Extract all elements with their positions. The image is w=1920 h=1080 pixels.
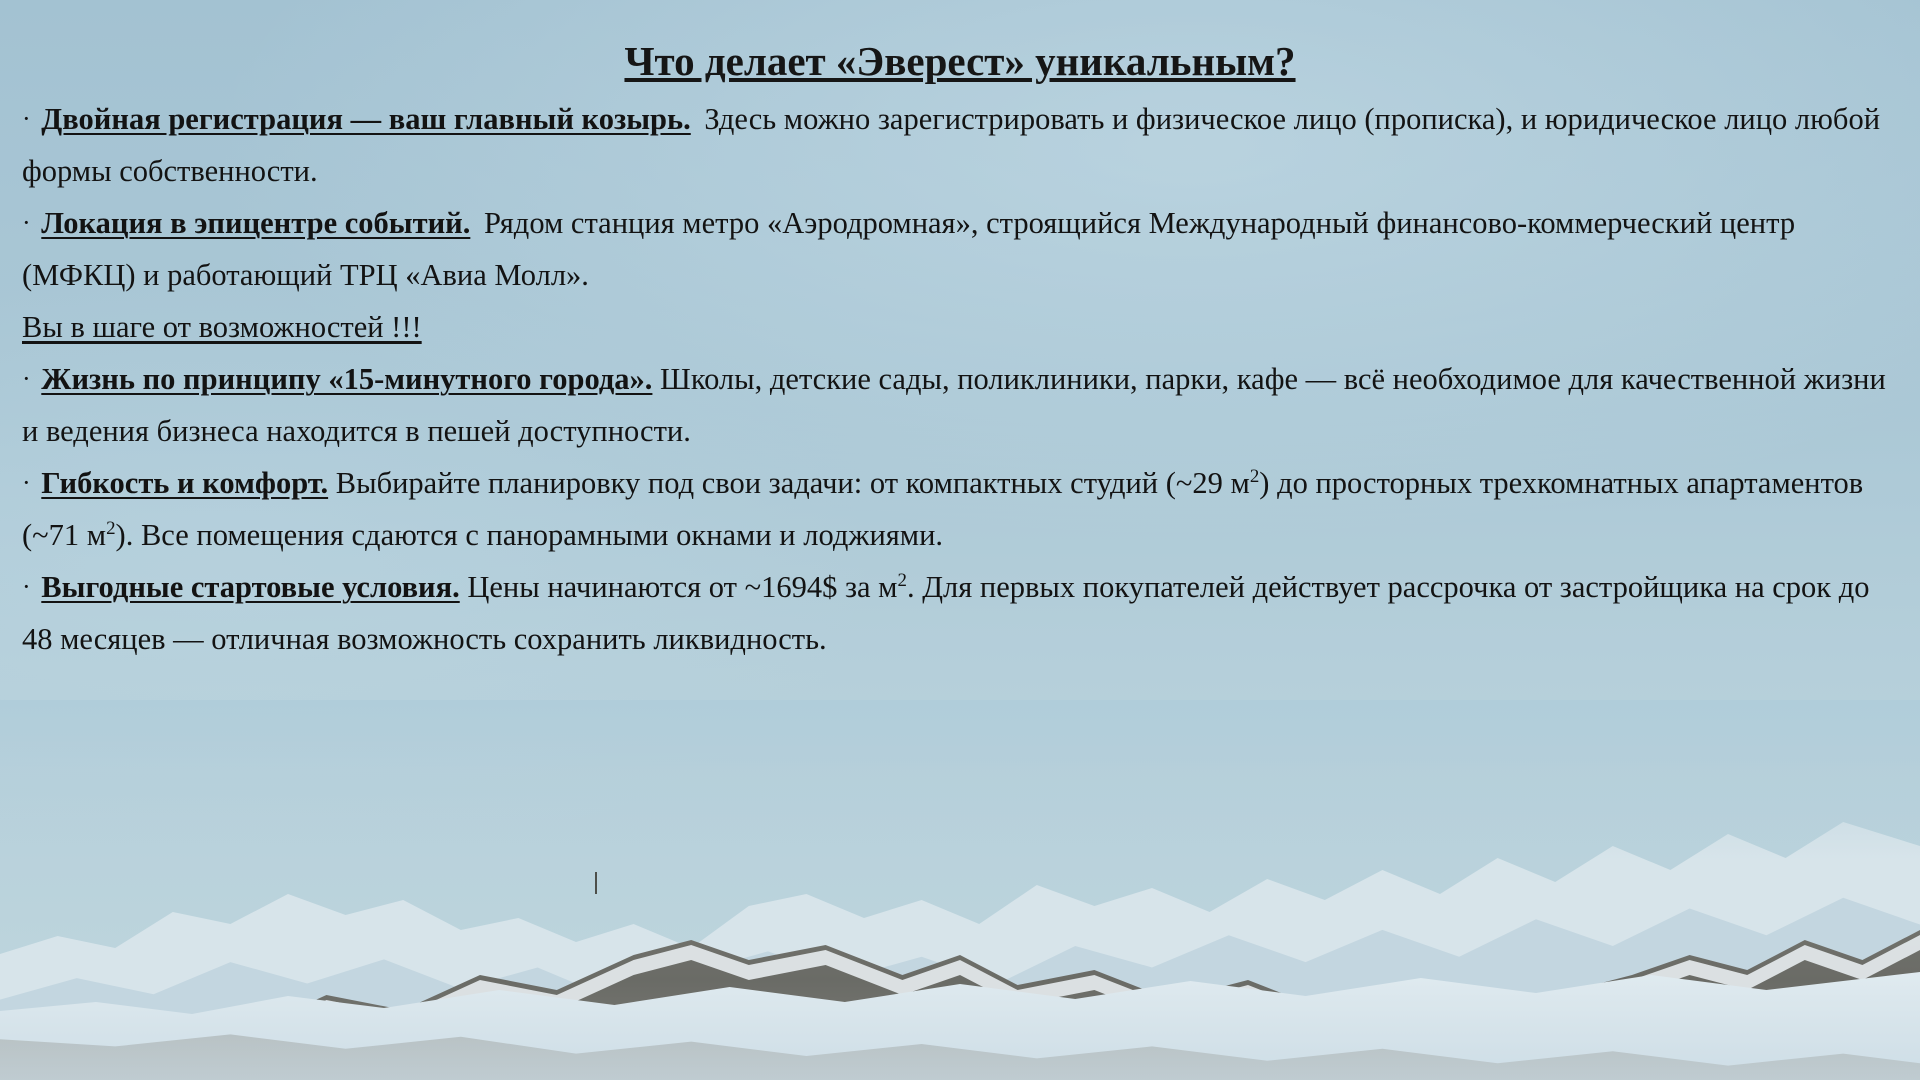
atmospheric-haze xyxy=(0,700,1920,860)
presentation-slide: Что делает «Эверест» уникальным? · Двойн… xyxy=(0,0,1920,1080)
list-item: · Гибкость и комфорт. Выбирайте планиров… xyxy=(22,457,1894,561)
bullet-lead: Выгодные стартовые условия. xyxy=(41,570,459,604)
bullet-marker-icon: · xyxy=(22,208,31,237)
bullet-tagline: Вы в шаге от возможностей !!! xyxy=(22,310,422,344)
bullet-lead: Двойная регистрация — ваш главный козырь… xyxy=(41,102,690,136)
superscript-square-1: 2 xyxy=(898,570,907,591)
superscript-square-1: 2 xyxy=(1250,466,1259,487)
bullet-body-part-1: Выбирайте планировку под свои задачи: от… xyxy=(336,466,1250,500)
list-item: · Жизнь по принципу «15-минутного города… xyxy=(22,353,1894,457)
list-item: · Двойная регистрация — ваш главный козы… xyxy=(22,93,1894,197)
bullet-list: · Двойная регистрация — ваш главный козы… xyxy=(18,93,1902,665)
summit-antenna xyxy=(595,872,597,894)
bullet-lead: Жизнь по принципу «15-минутного города». xyxy=(41,362,652,396)
bullet-marker-icon: · xyxy=(22,468,31,497)
page-title: Что делает «Эверест» уникальным? xyxy=(18,38,1902,85)
slide-content: Что делает «Эверест» уникальным? · Двойн… xyxy=(0,0,1920,665)
list-item: · Выгодные стартовые условия. Цены начин… xyxy=(22,561,1894,665)
mountain-range-photo xyxy=(0,700,1920,1080)
bullet-body-part-1: Цены начинаются от ~1694$ за м xyxy=(467,570,897,604)
page-title-text: Что делает «Эверест» уникальным? xyxy=(624,38,1295,84)
list-item: · Локация в эпицентре событий. Рядом ста… xyxy=(22,197,1894,353)
bullet-lead: Локация в эпицентре событий. xyxy=(41,206,470,240)
superscript-square-2: 2 xyxy=(106,518,115,539)
bullet-lead: Гибкость и комфорт. xyxy=(41,466,328,500)
bullet-marker-icon: · xyxy=(22,104,31,133)
bullet-marker-icon: · xyxy=(22,572,31,601)
bullet-body-part-3: ). Все помещения сдаются с панорамными о… xyxy=(116,518,944,552)
bullet-marker-icon: · xyxy=(22,364,31,393)
